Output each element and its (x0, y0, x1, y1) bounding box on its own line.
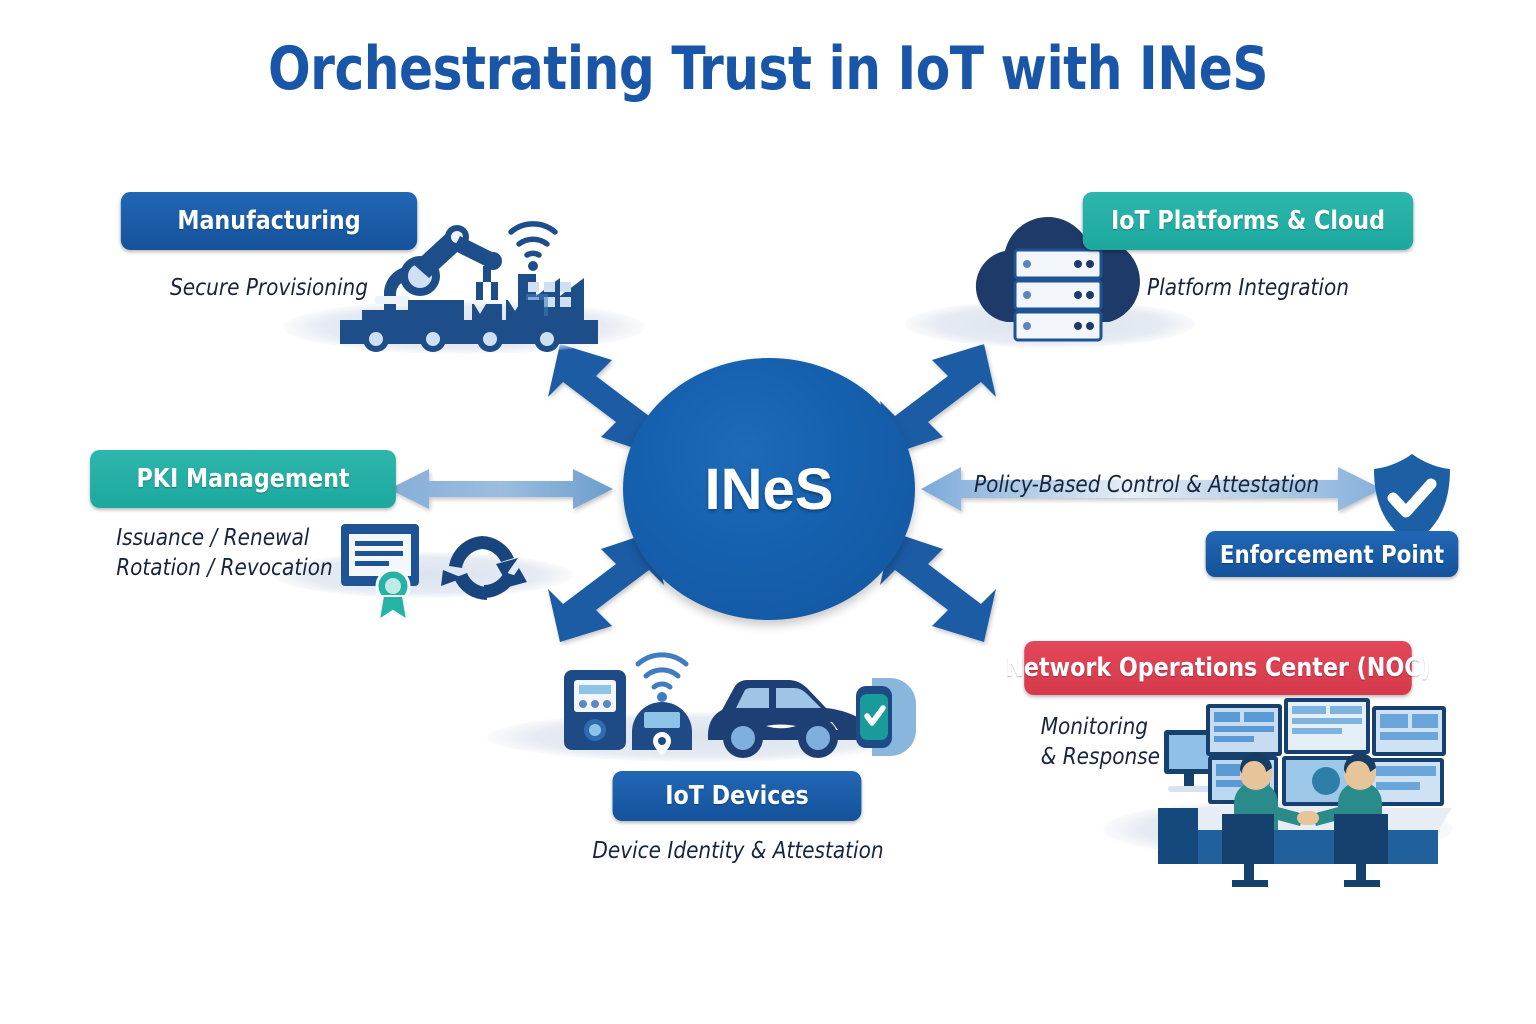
diagram-canvas: Orchestrating Trust in IoT with INeS (0, 0, 1536, 1024)
hub-ines[interactable]: INeS (623, 358, 915, 620)
caption-network-operations-center: Monitoring & Response (1041, 712, 1216, 772)
connector-pki-to-hub (389, 469, 613, 509)
badge-network-operations-center[interactable]: Network Operations Center (NOC) (1024, 641, 1412, 695)
devices-car-watch-meter-icon (550, 640, 930, 780)
badge-manufacturing[interactable]: Manufacturing (121, 192, 417, 250)
caption-iot-devices: Device Identity & Attestation (570, 836, 906, 866)
caption-enforcement-point: Policy-Based Control & Attestation (974, 470, 1362, 500)
caption-pki-management: Issuance / Renewal Rotation / Revocation (116, 523, 388, 583)
badge-pki-management[interactable]: PKI Management (90, 450, 396, 508)
badge-enforcement-point[interactable]: Enforcement Point (1206, 531, 1459, 577)
badge-iot-platforms-cloud[interactable]: IoT Platforms & Cloud (1083, 192, 1414, 250)
caption-manufacturing: Secure Provisioning (115, 273, 423, 303)
badge-iot-devices[interactable]: IoT Devices (613, 771, 862, 821)
caption-iot-platforms-cloud: Platform Integration (1079, 273, 1417, 303)
hub-label: INeS (705, 456, 834, 523)
